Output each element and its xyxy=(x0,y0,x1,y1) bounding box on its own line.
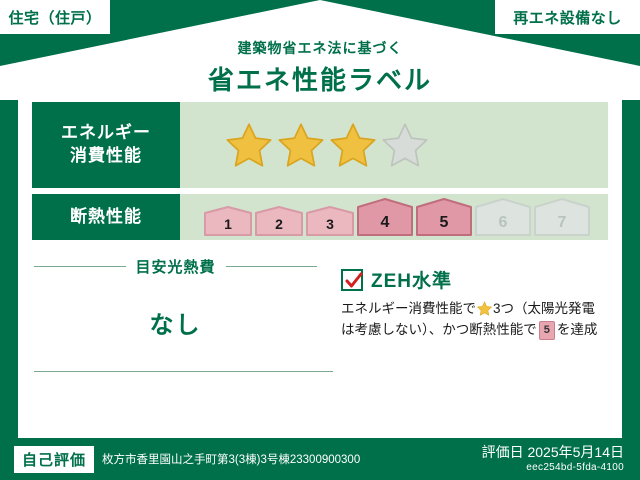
insulation-level-label: 1 xyxy=(204,216,252,232)
insulation-level-7: 7 xyxy=(534,198,590,236)
insulation-performance-label: 断熱性能 xyxy=(32,194,180,240)
star-icon-filled xyxy=(330,122,376,168)
star-icon-filled xyxy=(226,122,272,168)
insulation-level-label: 3 xyxy=(306,216,354,232)
zeh-description: エネルギー消費性能で3つ（太陽光発電は考慮しない）、かつ断熱性能で5を達成 xyxy=(341,299,612,341)
badge-renewable-energy-label: 再エネ設備なし xyxy=(513,7,622,28)
footer-right: 評価日 2025年5月14日 eec254bd-5fda-4100 xyxy=(482,444,624,474)
zeh-desc-level-chip: 5 xyxy=(539,321,555,340)
energy-label-root: 住宅（住戸） 再エネ設備なし 建築物省エネ法に基づく 省エネ性能ラベル エネルギ… xyxy=(0,0,640,480)
utility-cost-title: 目安光熱費 xyxy=(34,256,317,277)
insulation-level-label: 7 xyxy=(534,214,590,232)
page-title: 建築物省エネ法に基づく 省エネ性能ラベル xyxy=(0,38,640,97)
insulation-level-4: 4 xyxy=(357,198,413,236)
self-assessment-badge: 自己評価 xyxy=(14,446,94,473)
star-icon xyxy=(477,301,492,316)
zeh-desc-part1: エネルギー消費性能で xyxy=(341,301,476,316)
energy-performance-value xyxy=(180,102,608,188)
zeh-header: ZEH水準 xyxy=(341,266,612,293)
insulation-level-label: 5 xyxy=(416,214,472,232)
footer-left: 自己評価 枚方市香里園山之手町第3(3棟)3号棟23300900300 xyxy=(14,446,360,473)
zeh-checkbox[interactable] xyxy=(341,269,363,291)
check-icon xyxy=(344,271,364,291)
zeh-desc-star-count: 3つ（太陽光発電 xyxy=(493,301,595,316)
insulation-level-5: 5 xyxy=(416,198,472,236)
insulation-level-label: 2 xyxy=(255,216,303,232)
badge-building-type: 住宅（住戸） xyxy=(0,0,110,34)
energy-performance-row: エネルギー 消費性能 xyxy=(32,102,608,188)
zeh-block: ZEH水準 エネルギー消費性能で3つ（太陽光発電は考慮しない）、かつ断熱性能で5… xyxy=(333,248,622,376)
energy-performance-label: エネルギー 消費性能 xyxy=(32,102,180,188)
insulation-performance-row: 断熱性能 1234567 xyxy=(32,194,608,240)
insulation-level-label: 4 xyxy=(357,214,413,232)
property-address: 枚方市香里園山之手町第3(3棟)3号棟23300900300 xyxy=(102,451,360,467)
energy-label-line2: 消費性能 xyxy=(70,145,142,168)
insulation-performance-value: 1234567 xyxy=(180,194,608,240)
insulation-level-3: 3 xyxy=(306,206,354,236)
label-card: エネルギー 消費性能 断熱性能 1234567 目安光熱費 なし xyxy=(18,92,622,438)
insulation-level-scale: 1234567 xyxy=(204,198,590,236)
insulation-level-label: 6 xyxy=(475,214,531,232)
insulation-level-6: 6 xyxy=(475,198,531,236)
utility-cost-title-text: 目安光熱費 xyxy=(136,256,216,277)
title-main: 省エネ性能ラベル xyxy=(0,60,640,97)
zeh-desc-part2: は考慮しない）、かつ断熱性能で xyxy=(341,322,537,337)
bottom-divider xyxy=(34,371,333,372)
lower-section: 目安光熱費 なし ZEH水準 エネルギー消費性能で3つ（太陽光発電は考慮しない）… xyxy=(18,248,622,376)
energy-label-line1: エネルギー xyxy=(61,122,151,145)
insulation-label-text: 断熱性能 xyxy=(70,206,142,229)
utility-cost-value: なし xyxy=(18,305,333,340)
footer: 自己評価 枚方市香里園山之手町第3(3棟)3号棟23300900300 評価日 … xyxy=(0,438,640,480)
zeh-desc-part3: を達成 xyxy=(557,322,598,337)
insulation-level-1: 1 xyxy=(204,206,252,236)
star-icon-filled xyxy=(278,122,324,168)
star-icon-empty xyxy=(382,122,428,168)
star-rating xyxy=(226,122,428,168)
insulation-level-2: 2 xyxy=(255,206,303,236)
badge-renewable-energy: 再エネ設備なし xyxy=(495,0,640,34)
document-id: eec254bd-5fda-4100 xyxy=(482,462,624,475)
evaluation-date: 評価日 2025年5月14日 xyxy=(482,444,624,462)
badge-building-type-label: 住宅（住戸） xyxy=(8,7,101,28)
title-subtitle: 建築物省エネ法に基づく xyxy=(0,38,640,58)
zeh-title: ZEH水準 xyxy=(371,266,452,293)
utility-cost-block: 目安光熱費 なし xyxy=(18,248,333,376)
